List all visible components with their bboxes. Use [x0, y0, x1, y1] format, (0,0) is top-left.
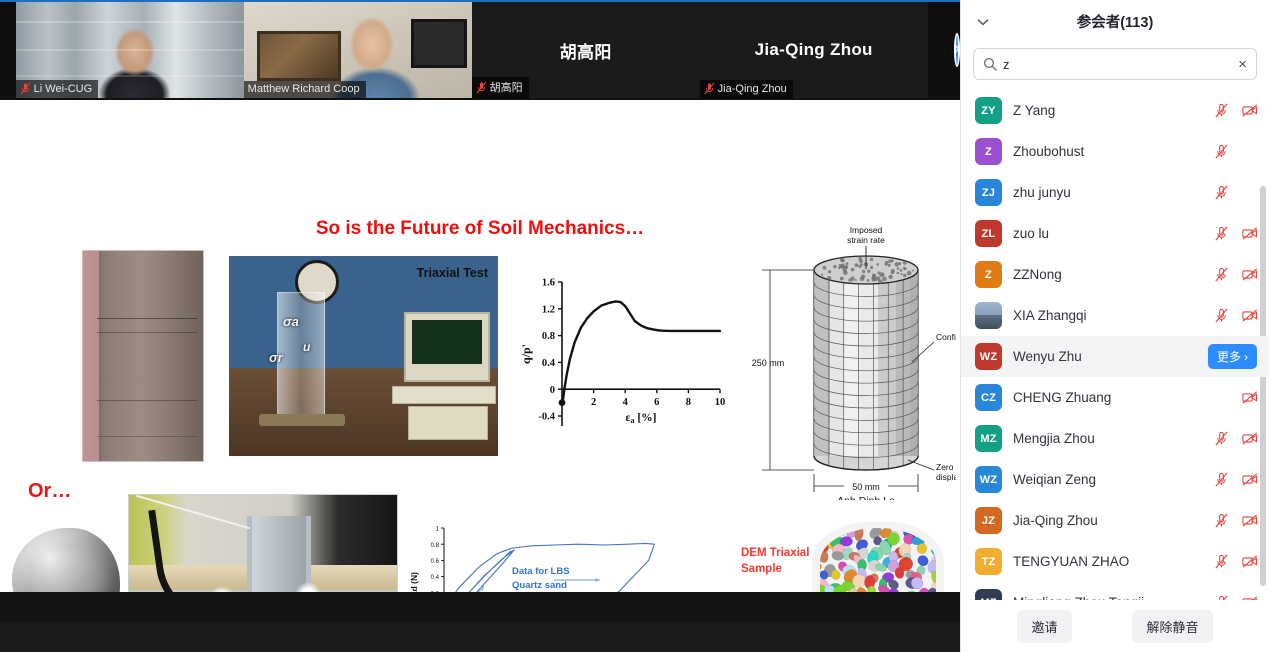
avatar: ZJ: [975, 179, 1002, 206]
participant-status-icons: [1214, 595, 1257, 600]
chevron-down-icon[interactable]: [975, 14, 991, 30]
triaxial-test-label: Triaxial Test: [417, 266, 488, 280]
mic-off-icon[interactable]: [1214, 431, 1229, 446]
participants-search-wrap: z ×: [961, 44, 1269, 90]
video-tile-li-wei[interactable]: Li Wei-CUG: [16, 2, 244, 98]
mic-off-icon[interactable]: [1214, 226, 1229, 241]
video-tile-jia-qing-zhou[interactable]: Jia-Qing Zhou Jia-Qing Zhou: [700, 2, 928, 98]
unmute-button[interactable]: 解除静音: [1132, 610, 1212, 643]
avatar: MZ: [975, 589, 1002, 600]
camera-off-icon[interactable]: [1242, 595, 1257, 600]
photo-body: Triaxial Test σa σr u: [229, 256, 498, 456]
search-input-value: z: [1003, 57, 1232, 72]
mic-off-icon[interactable]: [1214, 554, 1229, 569]
camera-off-icon[interactable]: [1242, 390, 1257, 405]
participant-row[interactable]: CZCHENG Zhuang: [961, 377, 1269, 418]
participant-name: TENGYUAN ZHAO: [1013, 554, 1203, 569]
svg-text:q/p': q/p': [519, 344, 533, 364]
svg-text:Anh Dinh Le: Anh Dinh Le: [837, 495, 895, 500]
svg-text:Confining stress: Confining stress: [936, 332, 956, 342]
video-tile-nameplate: Matthew Richard Coop: [244, 81, 366, 98]
participant-name: Wenyu Zhu: [1013, 349, 1197, 364]
video-tile-nameplate: Li Wei-CUG: [16, 80, 98, 98]
participant-name: zhu junyu: [1013, 185, 1203, 200]
svg-text:250 mm: 250 mm: [752, 358, 785, 368]
computer-tower: [408, 406, 488, 440]
participant-more-button[interactable]: 更多›: [1208, 344, 1257, 369]
mic-off-icon[interactable]: [1214, 513, 1229, 528]
svg-text:1: 1: [436, 527, 440, 533]
participant-row[interactable]: MZMengjia Zhou: [961, 418, 1269, 459]
avatar: ZL: [975, 220, 1002, 247]
more-label: 更多: [1217, 348, 1241, 365]
participant-status-icons: [1214, 472, 1257, 487]
participant-status-icons: [1214, 144, 1257, 159]
video-tile-name: Matthew Richard Coop: [248, 83, 360, 95]
video-tile-nameplate: Jia-Qing Zhou: [700, 80, 793, 98]
avatar: WZ: [975, 343, 1002, 370]
svg-text:εa [%]: εa [%]: [626, 412, 657, 425]
svg-text:1.2: 1.2: [542, 304, 555, 315]
participants-panel: 参会者(113) z × ZYZ Yang ZZhoubohu: [960, 0, 1269, 652]
participant-row[interactable]: ZYZ Yang: [961, 90, 1269, 131]
svg-text:8: 8: [686, 397, 691, 408]
avatar: WZ: [975, 466, 1002, 493]
participant-status-icons: [1214, 103, 1257, 118]
svg-text:0.4: 0.4: [542, 358, 556, 369]
video-filmstrip: Li Wei-CUG Matthew Richard Coop 胡高阳: [0, 0, 960, 100]
cell-base: [259, 414, 345, 426]
video-tile-name: Jia-Qing Zhou: [718, 83, 787, 95]
clear-search-icon[interactable]: ×: [1238, 57, 1247, 72]
participant-row[interactable]: WZWenyu Zhu更多›: [961, 336, 1269, 377]
svg-text:0: 0: [550, 385, 555, 396]
avatar: ZY: [975, 97, 1002, 124]
participant-status-icons: [1214, 308, 1257, 323]
video-tile-matthew-coop[interactable]: Matthew Richard Coop: [244, 2, 472, 98]
video-tile-name: Li Wei-CUG: [34, 83, 92, 95]
chevron-right-icon: ›: [1244, 350, 1248, 364]
triaxial-test-photo: Triaxial Test σa σr u: [229, 256, 498, 456]
participant-status-icons: [1214, 554, 1257, 569]
participant-row[interactable]: ZJzhu junyu: [961, 172, 1269, 213]
avatar: Z: [975, 261, 1002, 288]
filmstrip-left-pad: [0, 2, 16, 100]
svg-text:Zero: Zero: [936, 462, 954, 472]
dem-cylinder-diagram: Imposedstrain rateConfining stressZerodi…: [748, 224, 956, 500]
soil-core-photo: [82, 250, 204, 462]
svg-text:-0.4: -0.4: [538, 412, 555, 423]
mic-off-icon[interactable]: [1214, 185, 1229, 200]
participant-status-icons: [1214, 267, 1257, 282]
camera-off-icon[interactable]: [1242, 431, 1257, 446]
participant-row[interactable]: ZLzuo lu: [961, 213, 1269, 254]
mic-icon-placeholder: [1214, 390, 1229, 405]
shared-slide: So is the Future of Soil Mechanics… Or… …: [0, 100, 960, 622]
camera-off-icon[interactable]: [1242, 226, 1257, 241]
participant-name: zuo lu: [1013, 226, 1203, 241]
svg-text:6: 6: [654, 397, 659, 408]
svg-text:0.6: 0.6: [431, 559, 440, 565]
camera-off-icon[interactable]: [1242, 554, 1257, 569]
participant-row[interactable]: ZZhoubohust: [961, 131, 1269, 172]
svg-text:4: 4: [623, 397, 629, 408]
participant-name: CHENG Zhuang: [1013, 390, 1203, 405]
slide-or-label: Or…: [28, 480, 71, 503]
participant-row[interactable]: TZTENGYUAN ZHAO: [961, 541, 1269, 582]
mic-off-icon[interactable]: [1214, 267, 1229, 282]
pore-pressure-label: u: [303, 340, 310, 354]
search-input[interactable]: z ×: [973, 48, 1257, 80]
mic-off-icon[interactable]: [1214, 472, 1229, 487]
avatar: TZ: [975, 548, 1002, 575]
svg-text:strain rate: strain rate: [847, 235, 885, 245]
avatar: [975, 302, 1002, 329]
zoom-meeting-window: Li Wei-CUG Matthew Richard Coop 胡高阳: [0, 0, 1269, 652]
svg-text:displacement: displacement: [936, 472, 956, 482]
svg-text:1.6: 1.6: [542, 278, 555, 289]
triaxial-cell: [277, 292, 325, 420]
svg-text:Imposed: Imposed: [850, 225, 883, 235]
participant-name: Mengjia Zhou: [1013, 431, 1203, 446]
meeting-area: Li Wei-CUG Matthew Richard Coop 胡高阳: [0, 0, 960, 652]
participants-footer: 邀请 解除静音: [961, 600, 1269, 652]
computer-monitor: [404, 312, 490, 382]
video-tile-nameplate: 胡高阳: [472, 77, 529, 98]
participant-name: Weiqian Zeng: [1013, 472, 1203, 487]
camera-icon-placeholder: [1242, 144, 1257, 159]
svg-text:2: 2: [591, 397, 596, 408]
participant-status-icons: [1214, 513, 1257, 528]
mic-off-icon: [476, 81, 487, 94]
mic-off-icon[interactable]: [1214, 103, 1229, 118]
mic-off-icon: [20, 82, 31, 95]
video-tile-name: 胡高阳: [490, 79, 523, 95]
slide-bottom-bar: [0, 592, 960, 622]
participant-row[interactable]: XIA Zhangqi: [961, 295, 1269, 336]
svg-text:Quartz sand: Quartz sand: [512, 580, 567, 591]
participants-panel-header: 参会者(113): [961, 0, 1269, 44]
participant-name: ZZNong: [1013, 267, 1203, 282]
participant-status-icons: [1214, 390, 1257, 405]
participants-title: 参会者(113): [961, 11, 1269, 32]
search-icon: [983, 57, 997, 71]
participant-status-icons: 更多›: [1208, 344, 1257, 369]
svg-text:0.4: 0.4: [431, 575, 440, 581]
svg-text:10: 10: [715, 397, 726, 408]
svg-text:0.8: 0.8: [542, 331, 555, 342]
avatar: Z: [975, 138, 1002, 165]
participant-row[interactable]: WZWeiqian Zeng: [961, 459, 1269, 500]
camera-off-icon[interactable]: [1242, 472, 1257, 487]
avatar: JZ: [975, 507, 1002, 534]
svg-text:0.8: 0.8: [431, 543, 440, 549]
invite-button[interactable]: 邀请: [1017, 610, 1071, 643]
mic-off-icon[interactable]: [1214, 308, 1229, 323]
keyboard: [392, 386, 496, 404]
participant-name: Zhoubohust: [1013, 144, 1203, 159]
mic-off-icon[interactable]: [1214, 595, 1229, 600]
participant-row[interactable]: ZZZNong: [961, 254, 1269, 295]
avatar: CZ: [975, 384, 1002, 411]
camera-off-icon[interactable]: [1242, 308, 1257, 323]
camera-off-icon[interactable]: [1242, 103, 1257, 118]
participant-row[interactable]: MZMingliang Zhou Tongji: [961, 582, 1269, 600]
participant-name: Z Yang: [1013, 103, 1203, 118]
camera-off-icon[interactable]: [1242, 267, 1257, 282]
sigma-radial-label: σr: [269, 350, 283, 365]
svg-text:50 mm: 50 mm: [852, 482, 880, 492]
participants-list[interactable]: ZYZ Yang ZZhoubohust ZJzhu junyu ZLzuo l…: [961, 90, 1269, 600]
camera-off-icon[interactable]: [1242, 513, 1257, 528]
video-tile-hugaoyang[interactable]: 胡高阳 胡高阳: [472, 2, 700, 98]
sigma-axial-label: σa: [283, 314, 299, 329]
chart-qp-vs-strain: -0.400.40.81.21.6246810q/p'εa [%]: [516, 268, 728, 464]
participant-name: Jia-Qing Zhou: [1013, 513, 1203, 528]
mic-off-icon: [704, 82, 715, 95]
participant-status-icons: [1214, 185, 1257, 200]
avatar: MZ: [975, 425, 1002, 452]
participant-row[interactable]: JZJia-Qing Zhou: [961, 500, 1269, 541]
participant-name: Mingliang Zhou Tongji: [1013, 595, 1203, 600]
svg-text:Data for LBS: Data for LBS: [512, 566, 570, 577]
participant-name: XIA Zhangqi: [1013, 308, 1203, 323]
monitor-screen: [412, 320, 482, 364]
camera-icon-placeholder: [1242, 185, 1257, 200]
participant-status-icons: [1214, 226, 1257, 241]
participant-status-icons: [1214, 431, 1257, 446]
mic-off-icon[interactable]: [1214, 144, 1229, 159]
